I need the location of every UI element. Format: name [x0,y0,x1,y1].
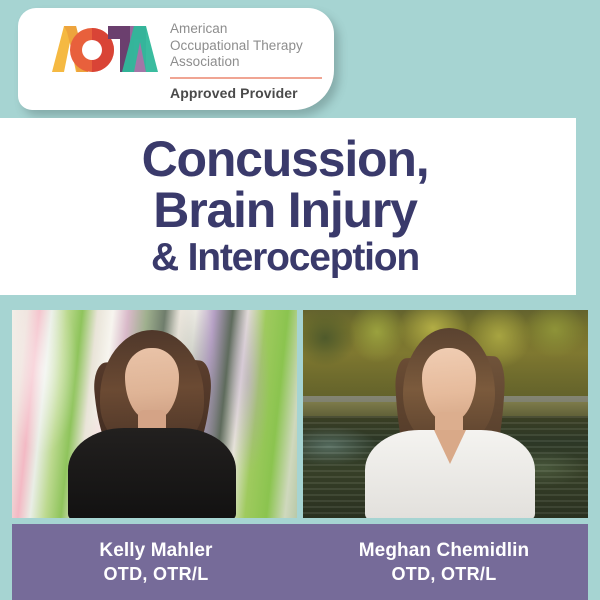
black-top [68,428,236,518]
presenter-kelly-mahler: Kelly Mahler OTD, OTR/L [12,524,300,600]
presenter-credentials: OTD, OTR/L [104,563,209,586]
aota-logo-icon [34,20,162,76]
presenter-photo-row [12,310,588,518]
presenter-name: Meghan Chemidlin [359,539,530,563]
aota-org-line-3: Association [170,54,320,71]
badge-divider-rule [170,77,322,79]
page-title-line-1: Concussion, [142,135,429,184]
aota-org-line-1: American [170,21,320,38]
kelly-mahler-photo [12,310,297,518]
webinar-promo-poster: American Occupational Therapy Associatio… [0,0,600,600]
presenter-name: Kelly Mahler [99,539,212,563]
presenter-meghan-chemidlin: Meghan Chemidlin OTD, OTR/L [300,524,588,600]
presenter-credentials: OTD, OTR/L [392,563,497,586]
title-card: Concussion, Brain Injury & Interoception [0,118,576,295]
meghan-chemidlin-photo [303,310,588,518]
aota-approved-provider-badge: American Occupational Therapy Associatio… [18,8,334,110]
page-title-line-2: Brain Injury [153,186,416,235]
presenter-name-bar: Kelly Mahler OTD, OTR/L Meghan Chemidlin… [12,524,588,600]
page-title-line-3: & Interoception [151,239,419,277]
aota-organization-text: American Occupational Therapy Associatio… [170,21,320,101]
aota-org-line-2: Occupational Therapy [170,38,320,55]
approved-provider-label: Approved Provider [170,85,320,101]
